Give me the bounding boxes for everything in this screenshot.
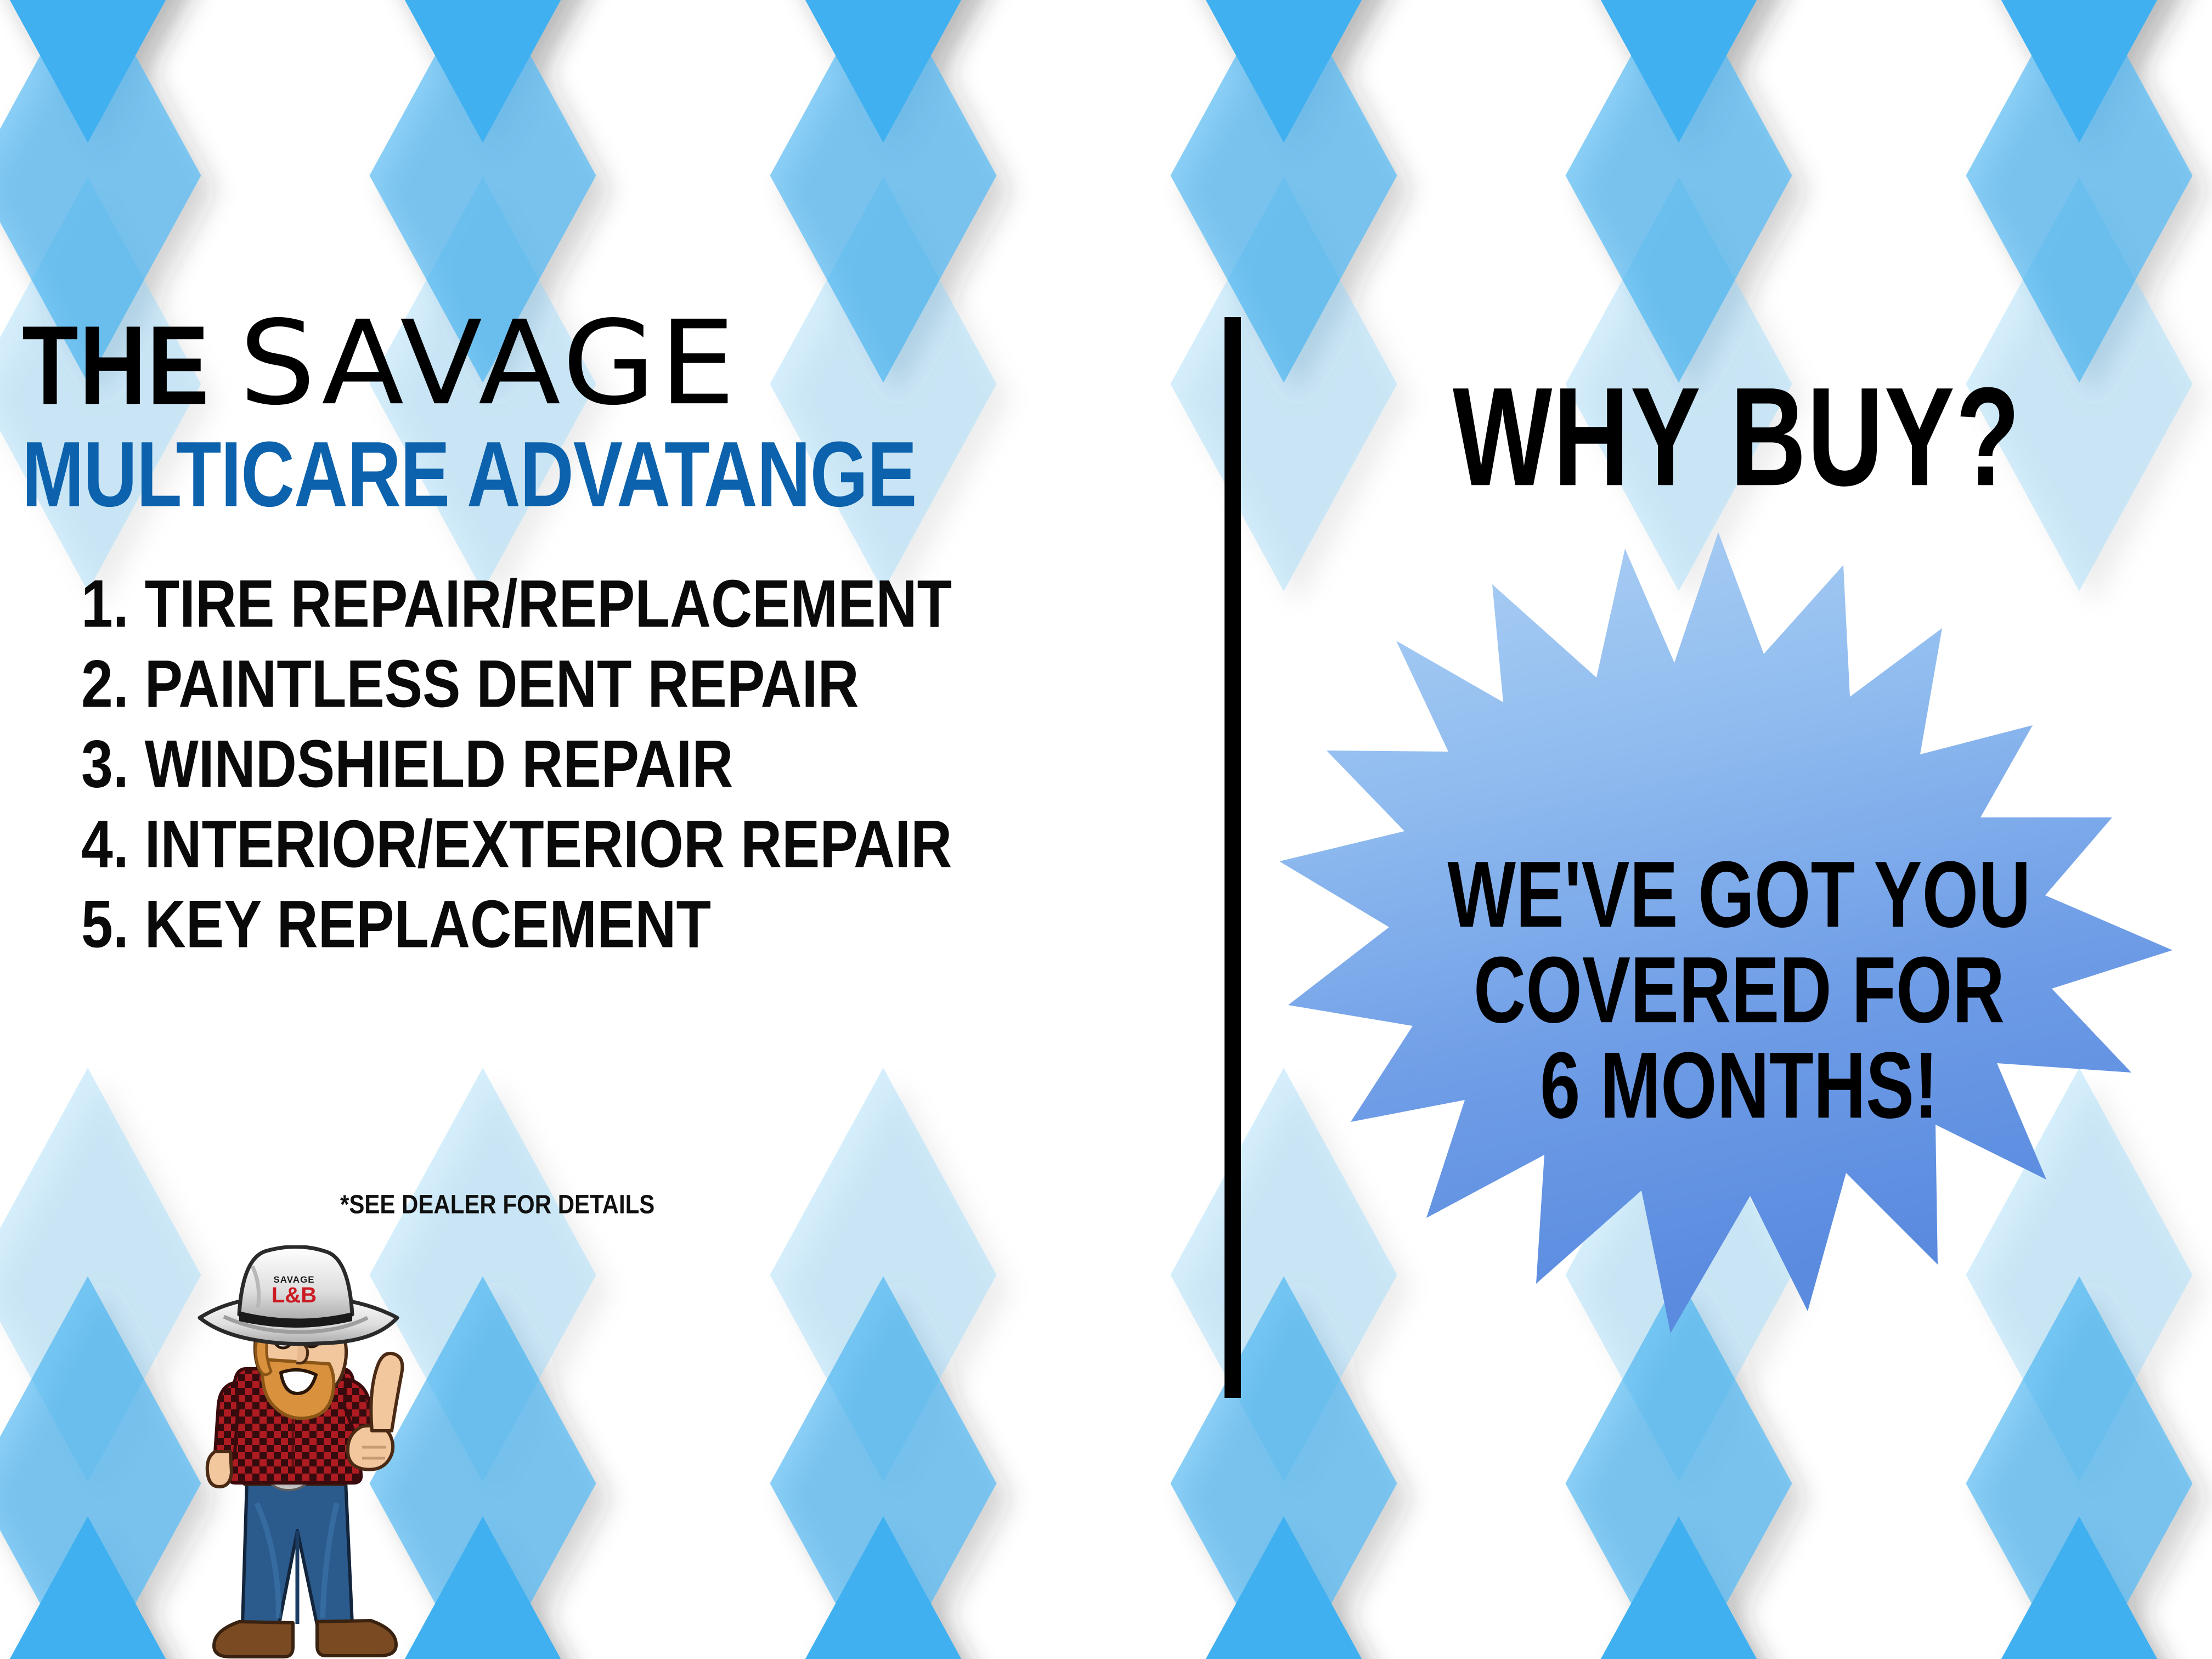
disclaimer-text: *SEE DEALER FOR DETAILS — [340, 1189, 654, 1220]
list-item: 4. INTERIOR/EXTERIOR REPAIR — [81, 811, 1156, 878]
hat-brand-main: L&B — [272, 1283, 317, 1307]
title-line-2: MULTICARE ADVATANGE — [22, 421, 1174, 502]
title-word-the: THE — [22, 314, 210, 417]
service-list: 1. TIRE REPAIR/REPLACEMENT 2. PAINTLESS … — [81, 571, 1156, 971]
burst-message: WE'VE GOT YOU COVERED FOR 6 MONTHS! — [1410, 848, 2068, 1134]
left-panel: THESAVAGE MULTICARE ADVATANGE 1. TIRE RE… — [0, 296, 1196, 1393]
poster-canvas: THESAVAGE MULTICARE ADVATANGE 1. TIRE RE… — [0, 0, 2212, 1659]
burst-line-1: WE'VE GOT YOU — [1410, 848, 2068, 942]
burst-line-2: COVERED FOR — [1410, 943, 2068, 1037]
vertical-divider — [1224, 317, 1241, 1398]
list-item: 2. PAINTLESS DENT REPAIR — [81, 651, 1156, 718]
list-item: 1. TIRE REPAIR/REPLACEMENT — [81, 571, 1156, 638]
program-title-block: THESAVAGE MULTICARE ADVATANGE — [22, 318, 1174, 502]
title-line-1: THESAVAGE — [22, 318, 1174, 417]
list-item: 5. KEY REPLACEMENT — [81, 891, 1156, 958]
burst-line-3: 6 MONTHS! — [1410, 1039, 2068, 1133]
title-word-savage: SAVAGE — [239, 311, 739, 417]
mascot-cowboy-thumbs-up: SAVAGE L&B — [181, 1245, 417, 1659]
list-item: 3. WINDSHIELD REPAIR — [81, 731, 1156, 798]
page-title: WHY BUY? — [1281, 357, 2193, 518]
title-subtitle: MULTICARE ADVATANGE — [22, 421, 916, 528]
